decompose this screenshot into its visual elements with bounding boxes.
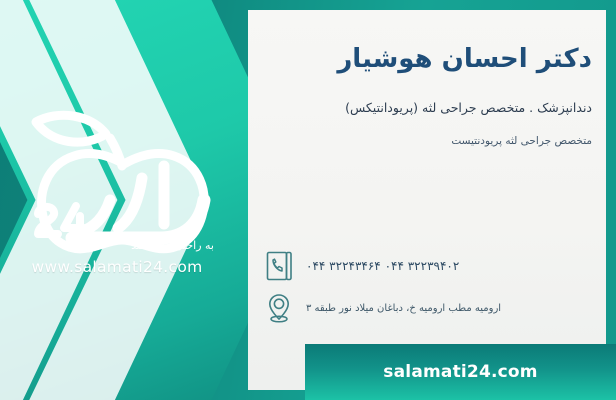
phone-numbers: ۳۲۲۳۹۴۰۲ ۰۴۴ ۳۲۲۴۳۴۶۴ ۰۴۴	[306, 259, 459, 273]
address-row: ارومیه مطب ارومیه خ، دباغان میلاد نور طب…	[264, 292, 594, 324]
doctor-name: دکتر احسان هوشیار	[292, 44, 592, 74]
phonebook-icon	[264, 250, 294, 282]
salamati24-logo: به راحتی یک لبخند www.salamati24.com	[14, 104, 220, 276]
doctor-subspecialty: متخصص جراحی لثه پریودنتیست	[282, 135, 592, 147]
phone-row: ۳۲۲۳۹۴۰۲ ۰۴۴ ۳۲۲۴۳۴۶۴ ۰۴۴	[264, 250, 594, 282]
logo-website: www.salamati24.com	[14, 258, 220, 276]
doctor-specialty: دندانپزشک . متخصص جراحی لثه (پریودانتیکس…	[282, 100, 592, 115]
apple-leaf-icon	[14, 104, 220, 254]
map-pin-icon	[264, 292, 294, 324]
logo-tagline: به راحتی یک لبخند	[131, 239, 214, 252]
footer-website: salamati24.com	[383, 362, 537, 382]
footer-bar: salamati24.com	[305, 344, 616, 400]
address-text: ارومیه مطب ارومیه خ، دباغان میلاد نور طب…	[306, 303, 501, 314]
business-card: به راحتی یک لبخند www.salamati24.com دکت…	[0, 0, 616, 400]
